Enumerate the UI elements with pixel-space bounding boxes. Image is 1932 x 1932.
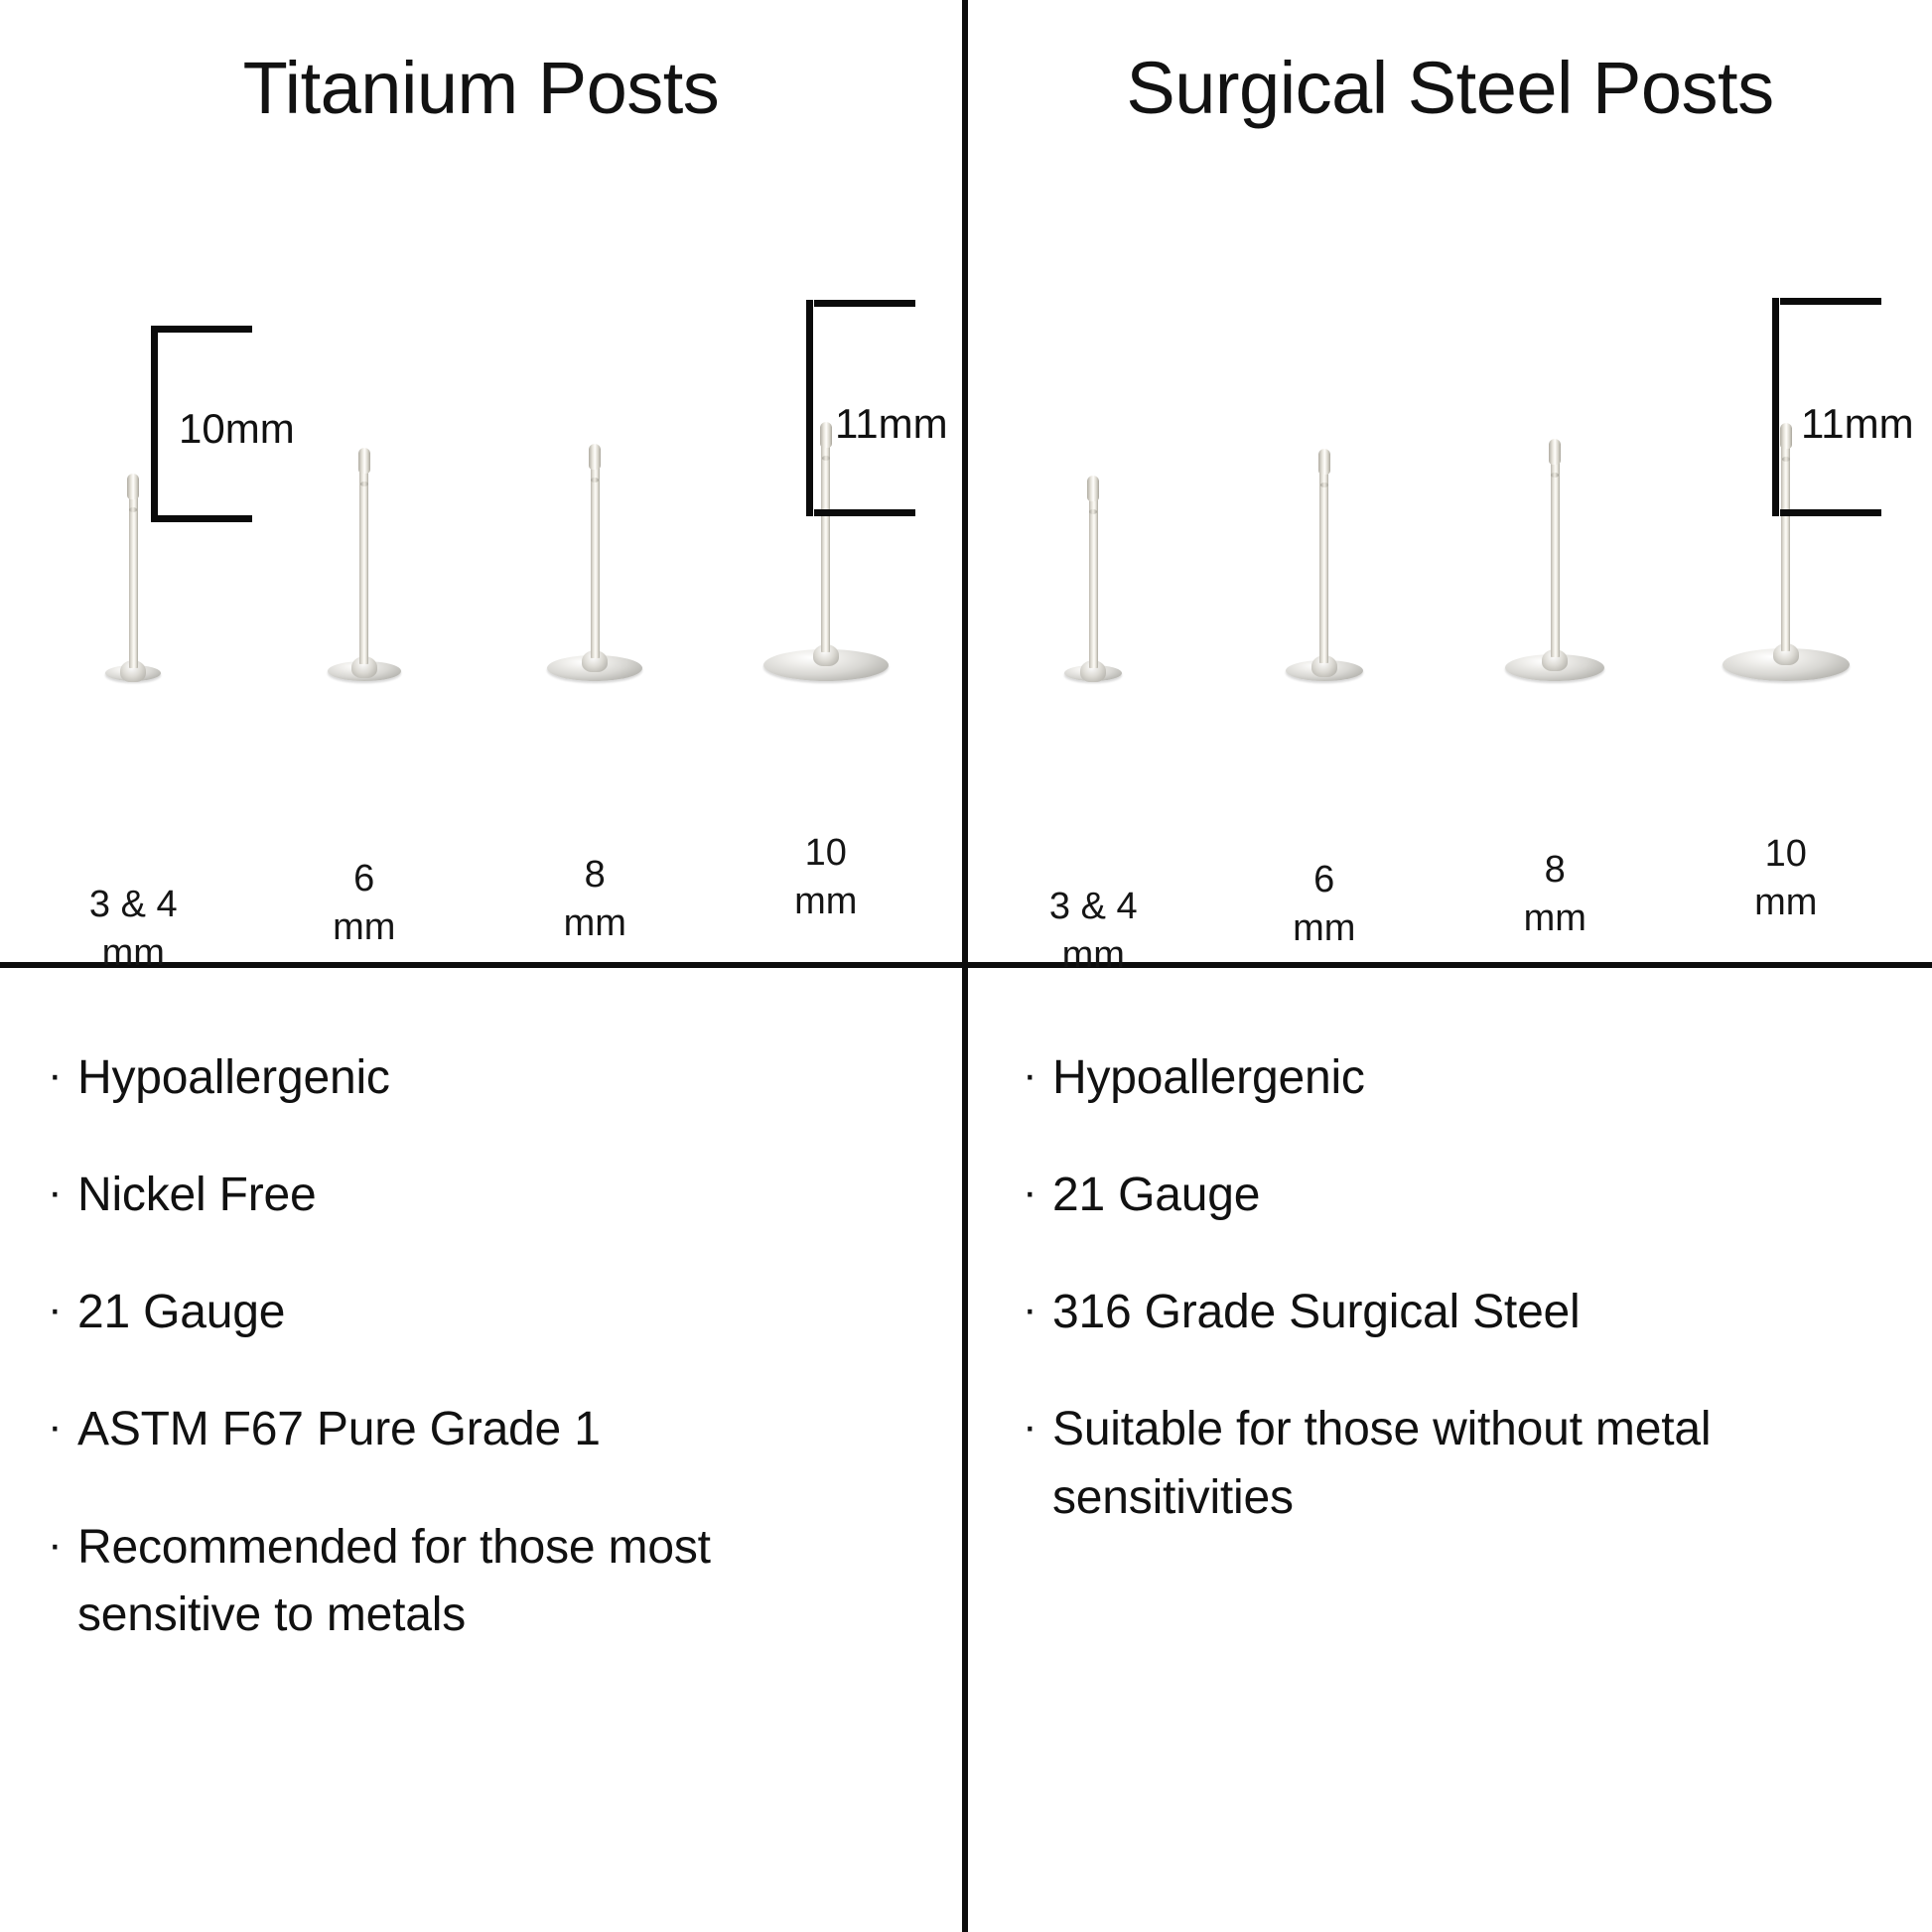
specimen-titanium-2: 8 mm (490, 448, 699, 681)
specimen-size-unit: mm (1062, 934, 1125, 976)
specimen-steel-2: 8 mm (1450, 443, 1659, 681)
specimen-size-value: 10 (805, 832, 847, 874)
specimen-label: 8 mm (490, 851, 699, 947)
specimen-label: 8 mm (1450, 846, 1659, 942)
panel-title-surgical-steel: Surgical Steel Posts (968, 46, 1932, 130)
specimen-size-unit: mm (333, 906, 395, 948)
list-item: · 316 Grade Surgical Steel (1023, 1279, 1896, 1346)
specimen-size-value: 3 & 4 (1049, 886, 1138, 927)
feature-text: Suitable for those without metal sensiti… (1052, 1396, 1747, 1531)
feature-text: 21 Gauge (77, 1279, 285, 1346)
list-item: · Recommended for those most sensitive t… (48, 1514, 901, 1649)
feature-text: Nickel Free (77, 1162, 317, 1229)
feature-text: Hypoallergenic (77, 1044, 390, 1112)
measurement-bracket-11mm (806, 300, 915, 516)
bullet-dot-icon: · (1023, 1396, 1052, 1457)
list-item: · 21 Gauge (1023, 1162, 1896, 1229)
specimen-size-unit: mm (1293, 907, 1355, 949)
bullet-dot-icon: · (1023, 1044, 1052, 1106)
specimen-label: 10 mm (722, 829, 930, 925)
specimen-size-value: 8 (1545, 849, 1566, 891)
bullet-dot-icon: · (1023, 1162, 1052, 1223)
bullet-dot-icon: · (48, 1396, 77, 1457)
specimen-label: 3 & 4 mm (989, 883, 1197, 979)
specimen-steel-1: 6 mm (1220, 453, 1429, 681)
specimen-steel-0: 3 & 4 mm (989, 480, 1197, 681)
feature-text: 316 Grade Surgical Steel (1052, 1279, 1581, 1346)
list-item: · 21 Gauge (48, 1279, 901, 1346)
specimen-size-unit: mm (1524, 897, 1587, 939)
specimen-label: 6 mm (1220, 856, 1429, 952)
specimen-row-surgical-steel: 3 & 4 mm 6 mm 8 mm (978, 284, 1901, 681)
specimen-label: 3 & 4 mm (29, 881, 237, 977)
specimen-label: 6 mm (260, 855, 469, 951)
specimen-size-value: 8 (585, 854, 606, 896)
earring-post-icon (1286, 453, 1363, 681)
comparison-board: Titanium Posts Surgical Steel Posts 3 & … (0, 0, 1932, 1932)
specimen-label: 10 mm (1682, 830, 1890, 926)
earring-post-icon (1505, 443, 1604, 681)
list-item: · Hypoallergenic (48, 1044, 901, 1112)
feature-text: 21 Gauge (1052, 1162, 1260, 1229)
specimen-size-unit: mm (794, 881, 857, 922)
list-item: · Nickel Free (48, 1162, 901, 1229)
measurement-bracket-11mm-steel (1772, 298, 1881, 516)
feature-text: Hypoallergenic (1052, 1044, 1365, 1112)
horizontal-divider (0, 962, 1932, 968)
specimen-size-value: 3 & 4 (89, 884, 178, 925)
bullet-dot-icon: · (48, 1514, 77, 1576)
specimen-size-unit: mm (564, 902, 626, 944)
measurement-bracket-10mm (151, 326, 260, 522)
specimen-size-value: 6 (1313, 859, 1334, 900)
panel-title-titanium: Titanium Posts (0, 46, 962, 130)
earring-post-icon (1064, 480, 1122, 681)
list-item: · Hypoallergenic (1023, 1044, 1896, 1112)
feature-text: ASTM F67 Pure Grade 1 (77, 1396, 601, 1463)
feature-text: Recommended for those most sensitive to … (77, 1514, 733, 1649)
specimen-size-value: 10 (1765, 833, 1807, 875)
bullet-dot-icon: · (48, 1044, 77, 1106)
specimen-size-value: 6 (353, 858, 374, 899)
feature-list-titanium: · Hypoallergenic · Nickel Free · 21 Gaug… (48, 1044, 901, 1699)
bullet-dot-icon: · (48, 1279, 77, 1340)
bullet-dot-icon: · (48, 1162, 77, 1223)
earring-post-icon (547, 448, 642, 681)
list-item: · Suitable for those without metal sensi… (1023, 1396, 1896, 1531)
feature-list-surgical-steel: · Hypoallergenic · 21 Gauge · 316 Grade … (1023, 1044, 1896, 1582)
bullet-dot-icon: · (1023, 1279, 1052, 1340)
specimen-size-unit: mm (1754, 882, 1817, 923)
specimen-titanium-1: 6 mm (260, 452, 469, 681)
list-item: · ASTM F67 Pure Grade 1 (48, 1396, 901, 1463)
specimen-size-unit: mm (102, 932, 165, 974)
earring-post-icon (328, 452, 401, 681)
